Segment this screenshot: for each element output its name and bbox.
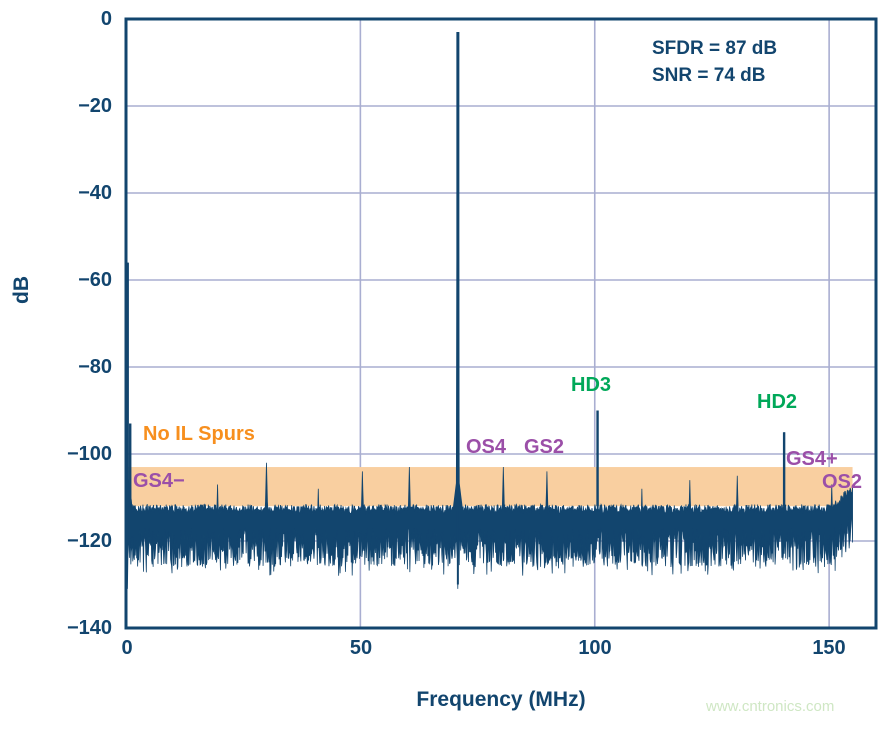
label-gs2: GS2: [524, 437, 564, 457]
label-os4: OS4: [466, 437, 506, 457]
label-gs4-minus: GS4−: [133, 471, 185, 491]
x-tick-150: 150: [794, 638, 864, 658]
watermark: www.cntronics.com: [706, 698, 834, 715]
sfdr-annotation: SFDR = 87 dB: [652, 37, 777, 61]
y-tick-label: 0: [0, 9, 112, 29]
y-tick-label: −80: [0, 357, 112, 377]
x-tick-100: 100: [560, 638, 630, 658]
fft-spectrum-plot: [0, 0, 896, 729]
label-no-il-spurs: No IL Spurs: [143, 424, 255, 444]
y-tick-label: −140: [0, 618, 112, 638]
x-tick-0: 0: [92, 638, 162, 658]
y-tick-label: −40: [0, 183, 112, 203]
y-tick-label: −120: [0, 531, 112, 551]
label-os2: OS2: [822, 472, 862, 492]
label-hd2: HD2: [757, 392, 797, 412]
snr-annotation: SNR = 74 dB: [652, 64, 766, 88]
spectrum-chart-figure: dB Frequency (MHz) 0 −20 −40 −60 −80 −10…: [0, 0, 896, 729]
label-hd3: HD3: [571, 375, 611, 395]
y-tick-label: −60: [0, 270, 112, 290]
label-gs4-plus: GS4+: [786, 449, 838, 469]
y-tick-label: −20: [0, 96, 112, 116]
y-tick-label: −100: [0, 444, 112, 464]
spur-band-highlight: [126, 467, 853, 506]
x-tick-50: 50: [326, 638, 396, 658]
